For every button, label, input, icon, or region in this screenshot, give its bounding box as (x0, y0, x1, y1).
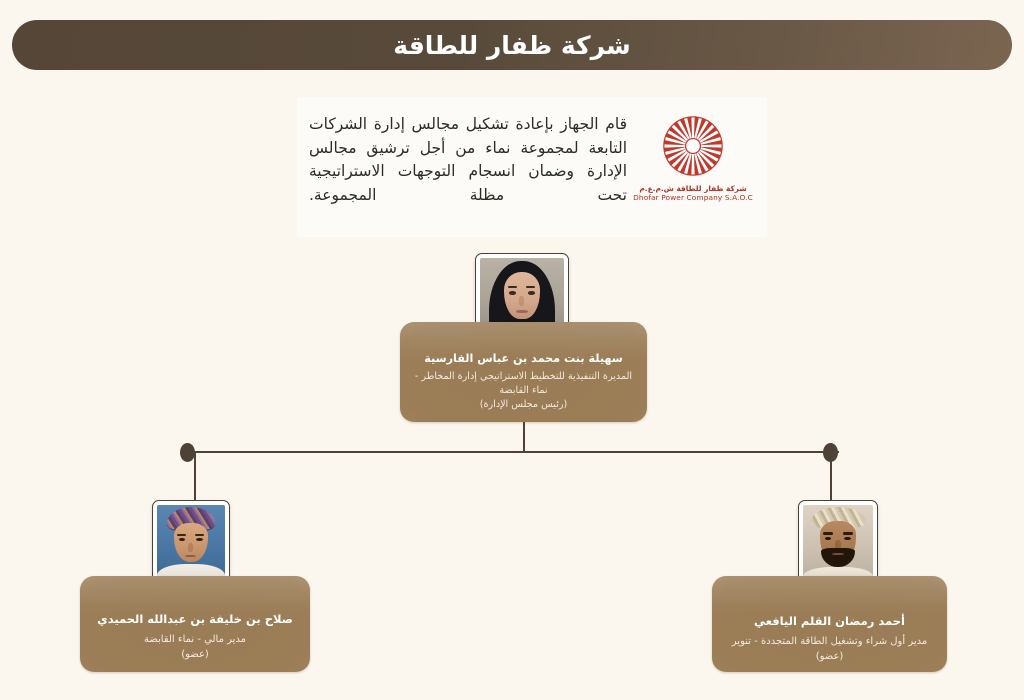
person-title: مدير أول شراء وتشغيل الطاقة المتجددة - ت… (724, 635, 936, 649)
avatar-member-1 (152, 500, 230, 585)
intro-panel: قام الجهاز بإعادة تشكيل مجالس إدارة الشر… (297, 97, 767, 237)
sunburst-logo-icon (662, 115, 724, 177)
connector-vertical-from-chairman (523, 422, 525, 452)
person-title: مدير مالي - نماء القابضة (92, 633, 299, 647)
connector-vertical-to-member-1 (194, 452, 196, 502)
org-chart-page: شركة ظفار للطاقة قام الجهاز بإعادة تشكيل… (0, 0, 1024, 700)
connector-horizontal-bar (186, 451, 839, 453)
person-role: (رئيس مجلس الإدارة) (480, 398, 568, 412)
portrait-image-member-2 (803, 505, 873, 580)
connector-node-left (180, 443, 195, 462)
person-role: (عضو) (181, 648, 209, 662)
logo-caption-arabic: شركة ظفار للطاقة ش.م.ع.م (639, 184, 746, 193)
person-role: (عضو) (816, 650, 844, 664)
person-name: صلاح بن خليفة بن عبدالله الحميدي (89, 613, 301, 627)
org-card-member-1[interactable]: صلاح بن خليفة بن عبدالله الحميدي مدير ما… (80, 576, 310, 672)
company-logo-block: شركة ظفار للطاقة ش.م.ع.م Dhofar Power Co… (633, 105, 753, 203)
page-header-banner: شركة ظفار للطاقة (12, 20, 1012, 70)
portrait-image-member-1 (157, 505, 225, 580)
connector-node-right (823, 443, 838, 462)
avatar-member-2 (798, 500, 878, 585)
person-name: أحمد رمضان القلم اليافعي (721, 615, 937, 629)
intro-paragraph: قام الجهاز بإعادة تشكيل مجالس إدارة الشر… (307, 105, 633, 207)
org-card-chairman[interactable]: سهيلة بنت محمد بن عباس الفارسية المديرة … (400, 322, 647, 422)
person-title: المديرة التنفيذية للتخطيط الاستراتيجي إد… (412, 370, 634, 397)
org-card-member-2[interactable]: أحمد رمضان القلم اليافعي مدير أول شراء و… (712, 576, 947, 672)
logo-caption-english: Dhofar Power Company S.A.O.C (633, 193, 753, 202)
person-name: سهيلة بنت محمد بن عباس الفارسية (410, 352, 637, 365)
page-title: شركة ظفار للطاقة (393, 33, 630, 58)
